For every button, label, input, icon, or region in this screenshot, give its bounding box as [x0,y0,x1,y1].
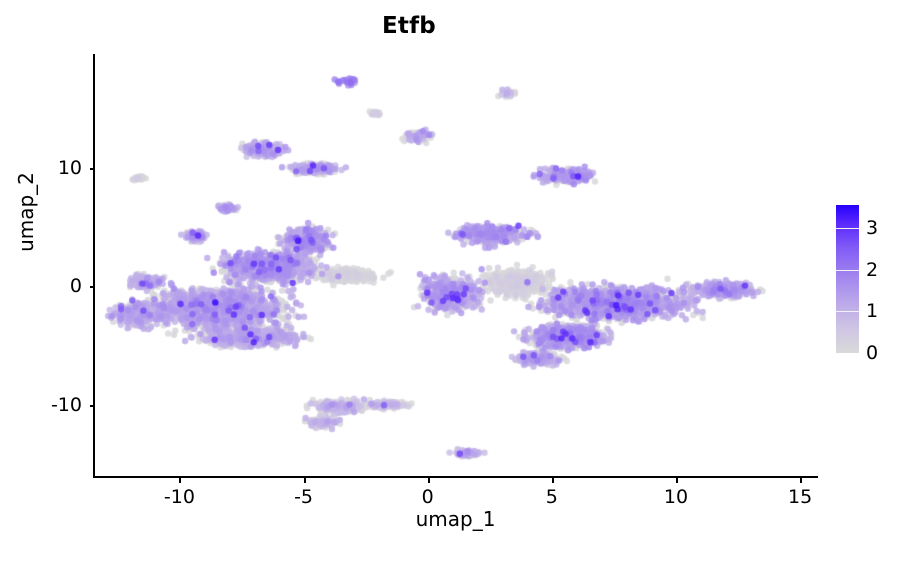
plot-axes: -10-5051015 100-10 [93,54,818,478]
colorbar-tick-1 [836,311,859,312]
colorbar-label-2: 2 [866,259,878,281]
colorbar-label-3: 3 [866,217,878,239]
x-tick--5 [304,478,306,483]
x-tick-15 [800,478,802,483]
x-tick-label--10: -10 [164,486,195,508]
x-tick-10 [676,478,678,483]
x-tick-label-10: 10 [664,486,688,508]
colorbar: 0123 [836,205,859,353]
x-tick-5 [552,478,554,483]
x-tick-label-5: 5 [546,486,558,508]
colorbar-label-1: 1 [866,300,878,322]
colorbar-tick-2 [836,270,859,271]
colorbar-label-0: 0 [866,342,878,364]
x-tick-0 [428,478,430,483]
scatter-canvas [95,54,818,476]
y-tick-label--10: -10 [51,394,82,416]
y-tick--10 [90,405,95,407]
colorbar-tick-3 [836,228,859,229]
plot-title: Etfb [0,13,818,39]
y-tick-0 [90,286,95,288]
y-tick-label-0: 0 [70,275,82,297]
y-axis-label: umap_2 [14,102,38,322]
x-tick-label--5: -5 [294,486,313,508]
umap-feature-plot: Etfb -10-5051015 100-10 umap_1 umap_2 01… [0,0,911,562]
x-tick-label-15: 15 [788,486,812,508]
x-tick--10 [179,478,181,483]
scatter-plot-area [95,54,818,476]
y-tick-label-10: 10 [58,157,82,179]
x-tick-label-0: 0 [422,486,434,508]
x-axis-label: umap_1 [93,507,818,531]
y-tick-10 [90,168,95,170]
